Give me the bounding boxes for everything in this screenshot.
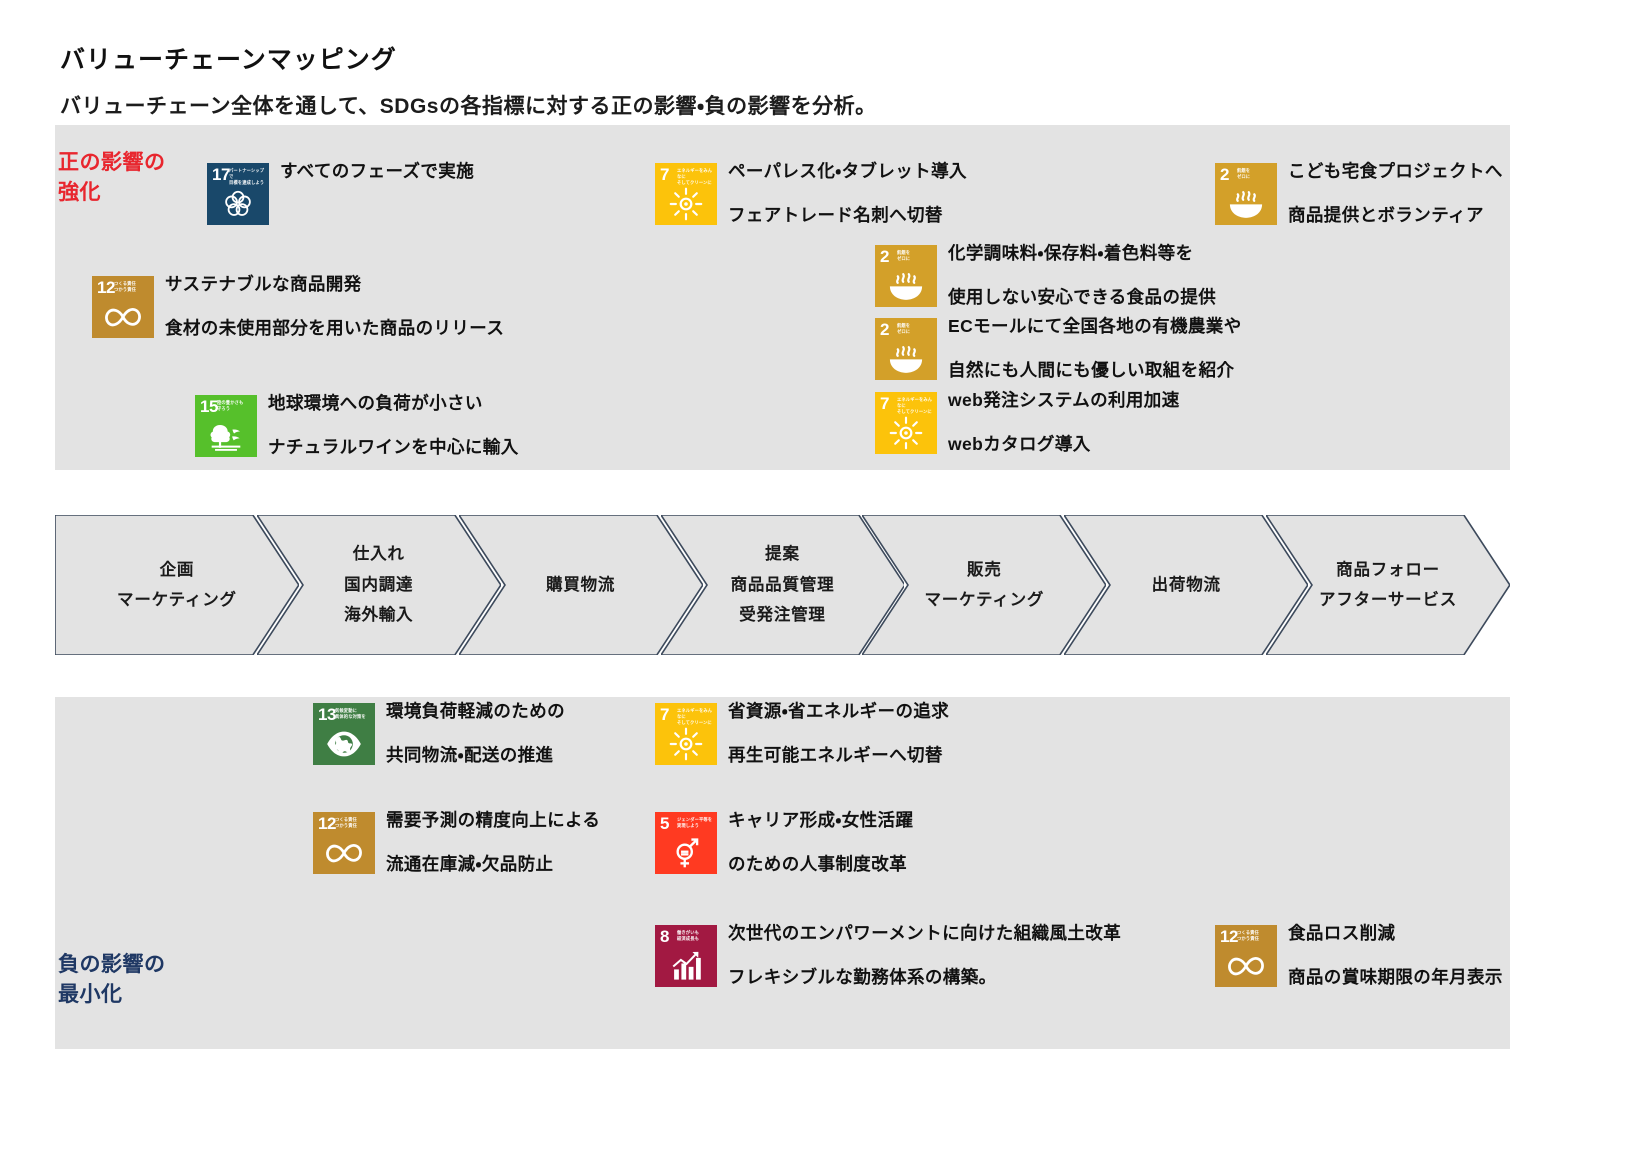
value-chain-stage-line: 企画 [160,562,195,579]
sdg-goal-number: 7 [880,395,889,412]
sdg-goal-caption: 飢餓を ゼロに [1237,168,1274,180]
sdg-initiative-text: すべてのフェーズで実施 [280,163,474,181]
sdg-initiative-item: 15陸の豊かさも 守ろう 地球環境への負荷が小さいナチュラルワインを中心に輸入 [195,395,519,457]
sdg-initiative-line: ペーパレス化・タブレット導入 [728,163,967,181]
sun-icon [655,727,717,761]
sdg-initiative-line: 環境負荷軽減のための [386,703,565,721]
sdg-initiative-text: ECモールにて全国各地の有機農業や自然にも人間にも優しい取組を紹介 [948,318,1242,379]
sdg-initiative-text: 省資源・省エネルギーの追求再生可能エネルギーへ切替 [728,703,949,764]
sdg-goal-number: 2 [880,248,889,265]
value-chain-stage-line: アフターサービス [1319,592,1457,609]
sdg-initiative-line: 商品の賞味期限の年月表示 [1288,969,1503,987]
sdg-initiative-line: すべてのフェーズで実施 [280,163,474,181]
sdg-initiative-text: 需要予測の精度向上による流通在庫減・欠品防止 [386,812,600,873]
sdg-goal-13-icon: 13気候変動に 具体的な対策を [313,703,375,765]
sdg-goal-15-icon: 15陸の豊かさも 守ろう [195,395,257,457]
sdg-goal-7-icon: 7エネルギーをみんなに そしてクリーンに [655,703,717,765]
sdg-initiative-text: 地球環境への負荷が小さいナチュラルワインを中心に輸入 [268,395,519,456]
sdg-initiative-line: こども宅食プロジェクトへ [1288,163,1503,181]
sdg-goal-12-icon: 12つくる責任 つかう責任 [92,276,154,338]
gender-equality-icon [655,836,717,870]
infinity-icon [1215,949,1277,983]
infinity-icon [313,836,375,870]
sdg-initiative-line: 使用しない安心できる食品の提供 [948,289,1216,307]
sdg-initiative-text: こども宅食プロジェクトへ商品提供とボランティア [1288,163,1503,224]
sdg-initiative-line: のための人事制度改革 [728,856,913,874]
sdg-initiative-line: フレキシブルな勤務体系の構築。 [728,969,1121,987]
sdg-initiative-item: 5ジェンダー平等を 実現しよう キャリア形成・女性活躍のための人事制度改革 [655,812,913,874]
sdg-goal-number: 12 [318,815,336,832]
sdg-goal-number: 13 [318,706,336,723]
sdg-goal-caption: エネルギーをみんなに そしてクリーンに [677,168,714,185]
page-subtitle: バリューチェーン全体を通して、SDGsの各指標に対する正の影響・負の影響を分析。 [60,90,877,120]
globe-eye-icon [313,727,375,761]
sdg-initiative-line: ナチュラルワインを中心に輸入 [268,439,519,457]
sdg-goal-number: 12 [1220,928,1238,945]
partnership-rings-icon [207,187,269,221]
steaming-bowl-icon [1215,187,1277,221]
sdg-initiative-item: 2飢餓を ゼロに 化学調味料・保存料・着色料等を使用しない安心できる食品の提供 [875,245,1216,307]
sdg-goal-17-icon: 17パートナーシップで 目標を達成しよう [207,163,269,225]
sdg-goal-caption: つくる責任 つかう責任 [114,281,151,293]
sdg-initiative-line: 商品提供とボランティア [1288,207,1503,225]
sdg-initiative-line: webカタログ導入 [948,436,1180,454]
sdg-initiative-line: 共同物流・配送の推進 [386,747,565,765]
value-chain-stage-line: 商品フォロー [1336,562,1440,579]
value-chain-stage[interactable]: 商品フォローアフターサービス [1266,515,1510,655]
sdg-goal-7-icon: 7エネルギーをみんなに そしてクリーンに [655,163,717,225]
sdg-initiative-line: 省資源・省エネルギーの追求 [728,703,949,721]
value-chain-stage-line: 出荷物流 [1152,577,1221,594]
sdg-initiative-text: 次世代のエンパワーメントに向けた組織風土改革フレキシブルな勤務体系の構築。 [728,925,1121,986]
sun-icon [655,187,717,221]
growth-chart-icon [655,949,717,983]
sdg-goal-caption: ジェンダー平等を 実現しよう [677,817,714,829]
sdg-goal-7-icon: 7エネルギーをみんなに そしてクリーンに [875,392,937,454]
sdg-goal-caption: 陸の豊かさも 守ろう [217,400,254,412]
sdg-initiative-text: 化学調味料・保存料・着色料等を使用しない安心できる食品の提供 [948,245,1216,306]
sdg-initiative-text: サステナブルな商品開発食材の未使用部分を用いた商品のリリース [165,276,504,337]
sdg-initiative-item: 7エネルギーをみんなに そしてクリーンに web発注システムの利用加速webカタ… [875,392,1180,454]
sdg-goal-number: 12 [97,279,115,296]
sdg-initiative-line: 地球環境への負荷が小さい [268,395,519,413]
sdg-initiative-line: キャリア形成・女性活躍 [728,812,913,830]
sdg-initiative-line: 食材の未使用部分を用いた商品のリリース [165,320,504,338]
value-chain-stage-label: 提案商品品質管理受発注管理 [731,546,835,624]
value-chain-mapping-page: バリューチェーンマッピング バリューチェーン全体を通して、SDGsの各指標に対す… [0,0,1640,1158]
sdg-initiative-item: 2飢餓を ゼロに ECモールにて全国各地の有機農業や自然にも人間にも優しい取組を… [875,318,1242,380]
value-chain-stage-line: 商品品質管理 [731,577,835,594]
value-chain-stage-line: マーケティング [117,592,237,609]
sdg-initiative-item: 2飢餓を ゼロに こども宅食プロジェクトへ商品提供とボランティア [1215,163,1503,225]
sdg-initiative-item: 8働きがいも 経済成長も 次世代のエンパワーメントに向けた組織風土改革フレキシブ… [655,925,1121,987]
sdg-initiative-item: 12つくる責任 つかう責任 サステナブルな商品開発食材の未使用部分を用いた商品の… [92,276,504,338]
sdg-goal-caption: 気候変動に 具体的な対策を [335,708,372,720]
sdg-initiative-text: 食品ロス削減商品の賞味期限の年月表示 [1288,925,1503,986]
value-chain-stage-label: 出荷物流 [1152,577,1221,594]
sdg-initiative-item: 17パートナーシップで 目標を達成しよう すべてのフェーズで実施 [207,163,474,225]
sdg-goal-caption: つくる責任 つかう責任 [335,817,372,829]
value-chain-stage-line: 購買物流 [546,577,615,594]
sdg-initiative-line: 需要予測の精度向上による [386,812,600,830]
sdg-initiative-item: 7エネルギーをみんなに そしてクリーンに ペーパレス化・タブレット導入フェアトレ… [655,163,967,225]
sdg-initiative-line: フェアトレード名刺へ切替 [728,207,967,225]
positive-impact-label: 正の影響の 強化 [58,148,166,209]
sdg-initiative-line: web発注システムの利用加速 [948,392,1180,410]
sdg-goal-2-icon: 2飢餓を ゼロに [875,318,937,380]
value-chain-flow: 企画マーケティング仕入れ国内調達海外輸入購買物流提案商品品質管理受発注管理販売マ… [55,515,1510,655]
sdg-goal-caption: エネルギーをみんなに そしてクリーンに [897,397,934,414]
sdg-goal-2-icon: 2飢餓を ゼロに [875,245,937,307]
sdg-goal-caption: 働きがいも 経済成長も [677,930,714,942]
sdg-goal-12-icon: 12つくる責任 つかう責任 [313,812,375,874]
sdg-goal-caption: 飢餓を ゼロに [897,323,934,335]
sdg-goal-number: 17 [212,166,230,183]
sdg-goal-number: 2 [880,321,889,338]
sdg-goal-number: 2 [1220,166,1229,183]
sdg-initiative-item: 7エネルギーをみんなに そしてクリーンに 省資源・省エネルギーの追求再生可能エネ… [655,703,949,765]
sdg-initiative-line: 再生可能エネルギーへ切替 [728,747,949,765]
sdg-initiative-line: 次世代のエンパワーメントに向けた組織風土改革 [728,925,1121,943]
value-chain-stage-label: 企画マーケティング [117,562,237,609]
sun-icon [875,416,937,450]
sdg-goal-8-icon: 8働きがいも 経済成長も [655,925,717,987]
sdg-initiative-line: 自然にも人間にも優しい取組を紹介 [948,362,1242,380]
value-chain-stage-line: 国内調達 [344,577,413,594]
sdg-initiative-text: 環境負荷軽減のための共同物流・配送の推進 [386,703,565,764]
value-chain-stage-label: 購買物流 [546,577,615,594]
value-chain-stage-line: 販売 [967,562,1002,579]
value-chain-stage-line: マーケティング [924,592,1044,609]
sdg-initiative-line: 化学調味料・保存料・着色料等を [948,245,1216,263]
sdg-goal-number: 7 [660,166,669,183]
steaming-bowl-icon [875,342,937,376]
page-title: バリューチェーンマッピング [60,40,397,76]
value-chain-stage-line: 海外輸入 [344,607,413,624]
value-chain-stage-line: 提案 [765,546,800,563]
sdg-goal-caption: つくる責任 つかう責任 [1237,930,1274,942]
value-chain-stage-label: 商品フォローアフターサービス [1319,562,1457,609]
value-chain-stage-label: 仕入れ国内調達海外輸入 [344,546,413,624]
sdg-initiative-text: キャリア形成・女性活躍のための人事制度改革 [728,812,913,873]
sdg-goal-caption: パートナーシップで 目標を達成しよう [229,168,266,185]
sdg-goal-caption: 飢餓を ゼロに [897,250,934,262]
sdg-initiative-item: 12つくる責任 つかう責任 食品ロス削減商品の賞味期限の年月表示 [1215,925,1503,987]
sdg-goal-number: 5 [660,815,669,832]
infinity-icon [92,300,154,334]
steaming-bowl-icon [875,269,937,303]
sdg-goal-number: 8 [660,928,669,945]
sdg-initiative-item: 12つくる責任 つかう責任 需要予測の精度向上による流通在庫減・欠品防止 [313,812,600,874]
sdg-initiative-line: 食品ロス削減 [1288,925,1503,943]
sdg-initiative-text: ペーパレス化・タブレット導入フェアトレード名刺へ切替 [728,163,967,224]
sdg-goal-number: 7 [660,706,669,723]
sdg-initiative-item: 13気候変動に 具体的な対策を 環境負荷軽減のための共同物流・配送の推進 [313,703,565,765]
sdg-initiative-line: ECモールにて全国各地の有機農業や [948,318,1242,336]
value-chain-stage-line: 受発注管理 [739,607,826,624]
sdg-initiative-line: 流通在庫減・欠品防止 [386,856,600,874]
sdg-initiative-line: サステナブルな商品開発 [165,276,504,294]
sdg-goal-12-icon: 12つくる責任 つかう責任 [1215,925,1277,987]
sdg-goal-5-icon: 5ジェンダー平等を 実現しよう [655,812,717,874]
value-chain-stage-label: 販売マーケティング [924,562,1044,609]
sdg-goal-2-icon: 2飢餓を ゼロに [1215,163,1277,225]
tree-bird-icon [195,419,257,453]
sdg-initiative-text: web発注システムの利用加速webカタログ導入 [948,392,1180,453]
sdg-goal-caption: エネルギーをみんなに そしてクリーンに [677,708,714,725]
negative-impact-label: 負の影響の 最小化 [58,950,166,1011]
sdg-goal-number: 15 [200,398,218,415]
value-chain-stage-line: 仕入れ [353,546,405,563]
